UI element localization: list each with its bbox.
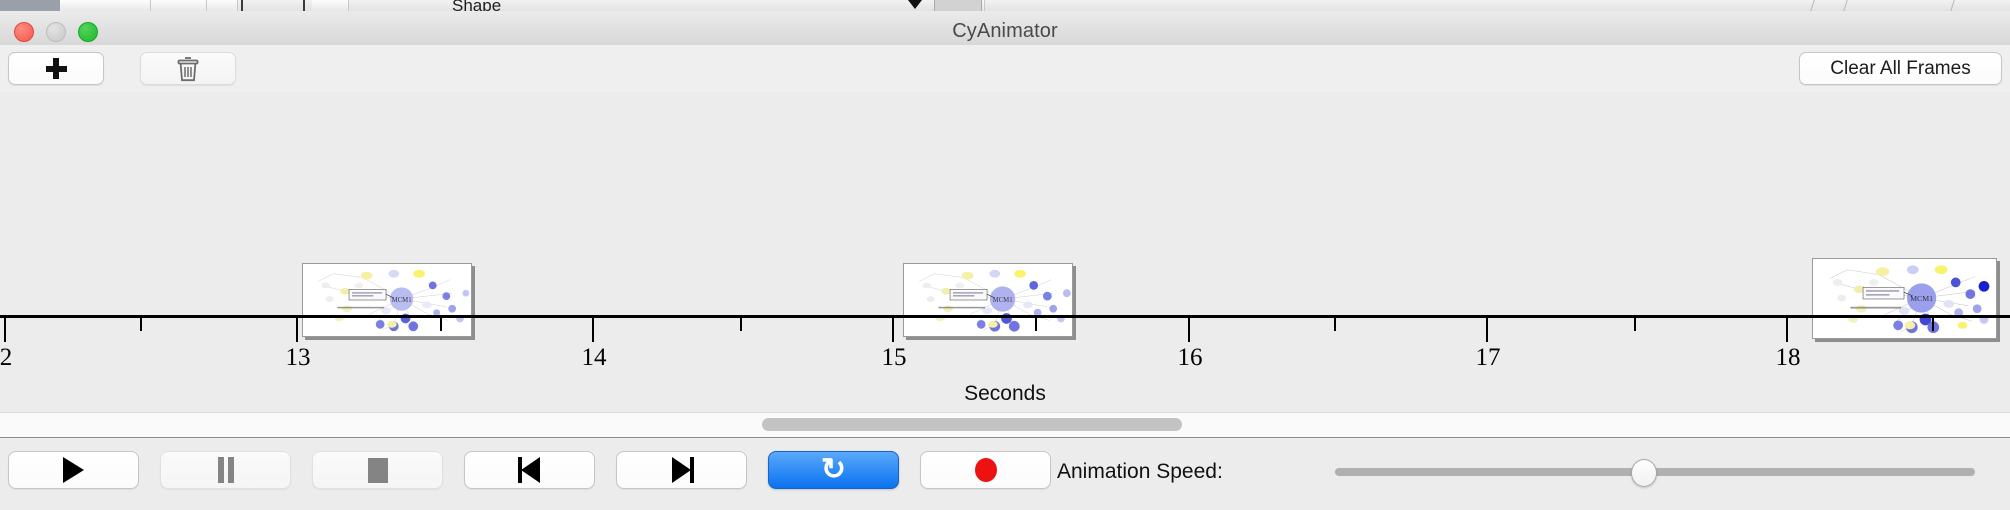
- axis-title: Seconds: [0, 382, 2010, 406]
- axis-tick-major: [296, 318, 298, 342]
- skip-forward-icon: [670, 457, 694, 483]
- background-window-header: [0, 0, 60, 11]
- axis-tick-major: [1188, 318, 1190, 342]
- record-button[interactable]: [920, 451, 1051, 489]
- plus-icon: [46, 58, 67, 79]
- delete-frame-button[interactable]: [140, 52, 236, 85]
- timeline-scrollbar[interactable]: [0, 412, 2010, 439]
- timeline-panel[interactable]: MCM1: [0, 92, 2010, 412]
- animation-speed-label: Animation Speed:: [1057, 460, 1223, 484]
- pause-button[interactable]: [160, 451, 291, 489]
- record-icon: [975, 458, 997, 482]
- clear-all-frames-button[interactable]: Clear All Frames: [1799, 52, 2002, 85]
- axis-label: 15: [882, 344, 907, 372]
- axis-tick-major: [4, 318, 6, 342]
- cyanimator-window: Shape CyAnimator Clear All Frames: [0, 0, 2010, 510]
- axis-label: 18: [1776, 344, 1801, 372]
- background-cell: [312, 0, 349, 11]
- background-divider: [1810, 0, 1815, 11]
- loop-icon: ↻: [821, 455, 846, 485]
- timeline-axis: [0, 315, 2010, 318]
- play-icon: [63, 457, 84, 483]
- frame-thumbnail[interactable]: MCM1: [1812, 258, 1997, 339]
- svg-text:MCM1: MCM1: [392, 297, 412, 304]
- background-tick: [241, 0, 243, 11]
- axis-tick-minor: [740, 318, 742, 331]
- pause-icon: [217, 457, 235, 483]
- background-tick: [303, 0, 305, 11]
- title-bar[interactable]: CyAnimator: [0, 11, 2010, 46]
- axis-tick-major: [592, 318, 594, 342]
- axis-tick-minor: [1932, 318, 1934, 331]
- svg-text:MCM1: MCM1: [1910, 294, 1933, 303]
- background-shape-label: Shape: [452, 0, 501, 11]
- animation-speed-slider-thumb[interactable]: [1631, 459, 1657, 487]
- loop-button[interactable]: ↻: [768, 451, 899, 489]
- axis-tick-minor: [140, 318, 142, 331]
- toolbar: Clear All Frames: [0, 45, 2010, 94]
- stop-button[interactable]: [312, 451, 443, 489]
- play-button[interactable]: [8, 451, 139, 489]
- axis-label: 17: [1476, 344, 1501, 372]
- trash-icon: [177, 56, 199, 82]
- axis-tick-minor: [1035, 318, 1037, 331]
- network-thumbnail-image: MCM1: [1813, 259, 1996, 338]
- axis-label: 2: [0, 344, 12, 372]
- background-divider: [1843, 0, 1848, 11]
- stop-icon: [368, 458, 388, 483]
- axis-tick-minor: [440, 318, 442, 331]
- svg-text:MCM1: MCM1: [993, 297, 1013, 304]
- frame-thumbnail[interactable]: MCM1: [903, 263, 1073, 337]
- background-arrow-icon: [908, 0, 922, 9]
- axis-label: 14: [582, 344, 607, 372]
- scrollbar-thumb[interactable]: [762, 418, 1182, 431]
- background-selection: [934, 0, 982, 11]
- axis-label: 13: [286, 344, 311, 372]
- network-thumbnail-image: MCM1: [303, 264, 471, 336]
- background-divider: [1950, 0, 1955, 11]
- background-cell: [983, 0, 985, 11]
- axis-tick-minor: [1334, 318, 1336, 331]
- playback-bar: ↻ Animation Speed:: [0, 438, 2010, 510]
- background-window-strip: Shape: [0, 0, 2010, 11]
- axis-tick-major: [1786, 318, 1788, 342]
- network-thumbnail-image: MCM1: [904, 264, 1072, 336]
- background-cell: [60, 0, 151, 11]
- window-title: CyAnimator: [0, 20, 2010, 43]
- axis-label: 16: [1178, 344, 1203, 372]
- skip-to-end-button[interactable]: [616, 451, 747, 489]
- add-frame-button[interactable]: [8, 52, 104, 85]
- axis-tick-minor: [1634, 318, 1636, 331]
- axis-tick-major: [892, 318, 894, 342]
- frame-thumbnail[interactable]: MCM1: [302, 263, 472, 337]
- skip-back-icon: [518, 457, 542, 483]
- background-cell: [207, 0, 238, 11]
- skip-to-start-button[interactable]: [464, 451, 595, 489]
- axis-tick-major: [1486, 318, 1488, 342]
- background-cell: [151, 0, 207, 11]
